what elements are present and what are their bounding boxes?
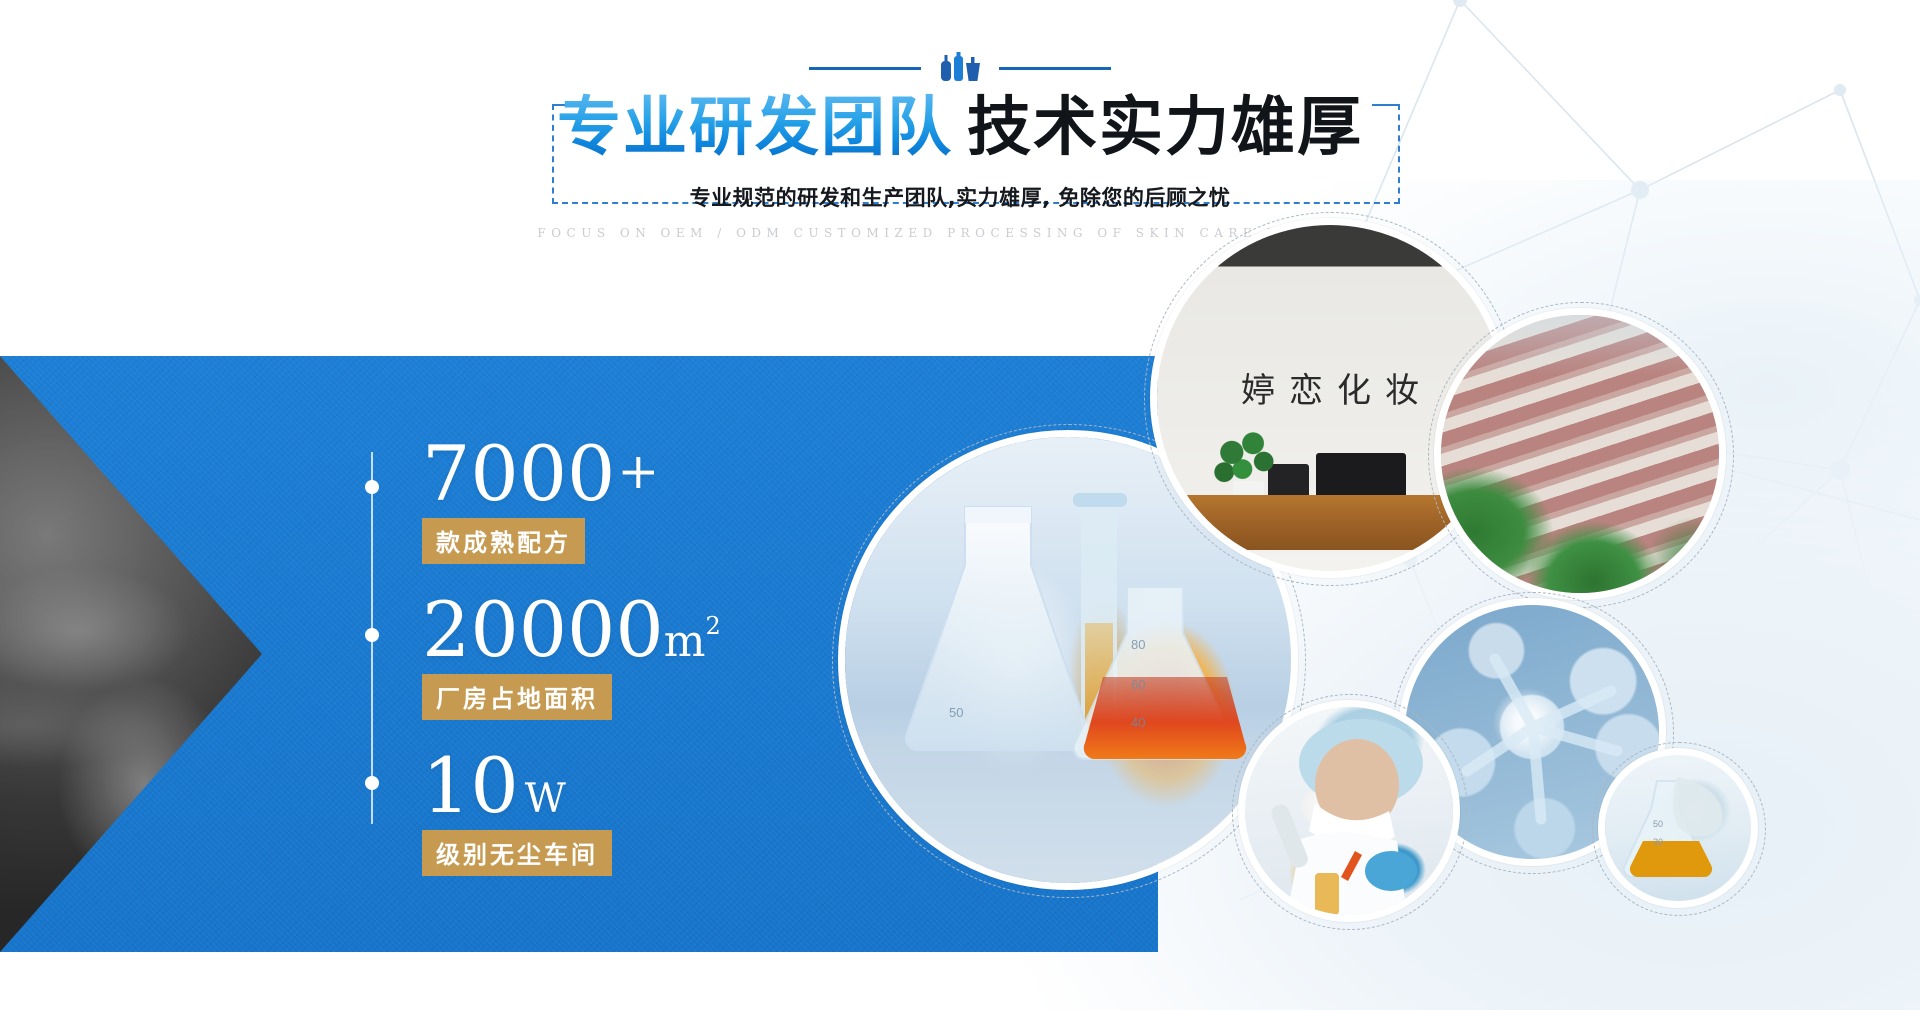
building-image (1441, 315, 1719, 593)
stat-unit: m (664, 616, 706, 667)
stat-unit-exponent: 2 (706, 612, 721, 640)
lab-technician-pipette-photo (1238, 700, 1460, 922)
technician-illustration (1245, 707, 1453, 915)
banner-page: 专业研发团队技术实力雄厚 专业规范的研发和生产团队,实力雄厚, 免除您的后顾之忧… (0, 0, 1920, 1010)
decoration-line-left (809, 67, 921, 70)
page-title-secondary: 技术实力雄厚 (967, 91, 1363, 165)
svg-text:60: 60 (1131, 677, 1145, 692)
header-decoration (809, 52, 1111, 84)
stat-value: 20000 (422, 585, 664, 674)
stat-value: 10 (422, 741, 519, 830)
stat-number: 20000m2 (422, 592, 832, 668)
svg-text:40: 40 (1131, 715, 1145, 730)
english-tagline: FOCUS ON OEM / ODM CUSTOMIZED PROCESSING… (0, 226, 1920, 240)
svg-text:80: 80 (1131, 637, 1145, 652)
gloved-hand-amber-flask-photo: 5030 (1598, 748, 1758, 908)
amber-flask-image: 5030 (1605, 755, 1751, 901)
stat-badge: 厂房占地面积 (422, 674, 612, 720)
svg-text:30: 30 (1653, 837, 1663, 847)
statistics-list: 7000+ 款成熟配方 20000m2 厂房占地面积 10W 级别无尘车间 (372, 436, 832, 876)
stat-suffix: m2 (664, 616, 721, 667)
stat-number: 7000+ (422, 436, 832, 512)
page-subtitle: 专业规范的研发和生产团队,实力雄厚, 免除您的后顾之忧 (0, 182, 1920, 212)
stats-dot-1 (365, 480, 379, 494)
decoration-line-right (999, 67, 1111, 70)
amber-flask-illustration: 5030 (1605, 755, 1751, 901)
page-title: 专业研发团队技术实力雄厚 (0, 96, 1920, 161)
stat-item: 10W 级别无尘车间 (422, 748, 832, 876)
stat-item: 20000m2 厂房占地面积 (422, 592, 832, 720)
cosmetic-bottles-icon (939, 52, 981, 84)
header: 专业研发团队技术实力雄厚 专业规范的研发和生产团队,实力雄厚, 免除您的后顾之忧… (0, 0, 1920, 270)
stats-dot-3 (365, 776, 379, 790)
grayscale-hands-laboratory-photo (0, 356, 262, 952)
stat-item: 7000+ 款成熟配方 (422, 436, 832, 564)
stat-badge: 级别无尘车间 (422, 830, 612, 876)
page-title-primary: 专业研发团队 (557, 91, 953, 165)
stat-suffix: + (617, 442, 659, 500)
svg-text:50: 50 (1653, 819, 1663, 829)
stat-value: 7000 (422, 429, 615, 518)
stats-dot-2 (365, 628, 379, 642)
stat-number: 10W (422, 748, 832, 824)
stat-badge: 款成熟配方 (422, 518, 585, 564)
factory-building-exterior-photo (1434, 308, 1726, 600)
technician-image (1245, 707, 1453, 915)
stat-suffix: W (525, 776, 566, 822)
svg-text:50: 50 (949, 705, 963, 720)
